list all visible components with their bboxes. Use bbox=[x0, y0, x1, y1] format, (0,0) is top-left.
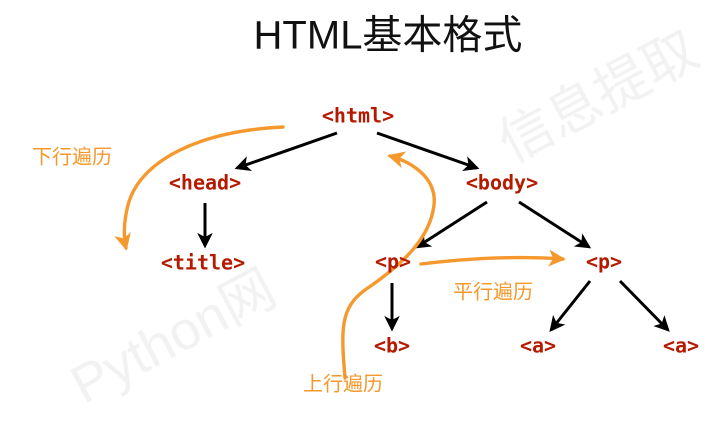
arrow-parallel-traversal bbox=[421, 258, 563, 264]
edge-html-to-body bbox=[377, 133, 477, 168]
node-head[interactable]: <head> bbox=[169, 171, 241, 195]
edge-p2-to-a2 bbox=[620, 281, 668, 330]
page-title: HTML基本格式 bbox=[254, 14, 523, 58]
node-a-first[interactable]: <a> bbox=[520, 334, 556, 358]
watermark-python: Python网 bbox=[61, 258, 285, 415]
edge-html-to-head bbox=[237, 133, 337, 168]
node-p-first[interactable]: <p> bbox=[375, 250, 411, 274]
node-p-second[interactable]: <p> bbox=[586, 250, 622, 274]
edge-body-to-p2 bbox=[519, 202, 589, 247]
node-html[interactable]: <html> bbox=[322, 104, 394, 128]
html-structure-diagram: Python网 信息提取 HTML基本格式 <html> <head> <bo bbox=[0, 0, 728, 445]
node-b[interactable]: <b> bbox=[374, 334, 410, 358]
annotation-parallel-traversal: 平行遍历 bbox=[453, 280, 533, 303]
annotation-downward-traversal: 下行遍历 bbox=[32, 145, 112, 168]
node-a-second[interactable]: <a> bbox=[663, 334, 699, 358]
node-title[interactable]: <title> bbox=[161, 251, 245, 275]
node-body[interactable]: <body> bbox=[466, 171, 538, 195]
edge-p2-to-a1 bbox=[551, 281, 590, 330]
diagram-canvas: Python网 信息提取 HTML基本格式 <html> <head> <bo bbox=[0, 0, 728, 445]
annotation-upward-traversal: 上行遍历 bbox=[303, 372, 383, 395]
